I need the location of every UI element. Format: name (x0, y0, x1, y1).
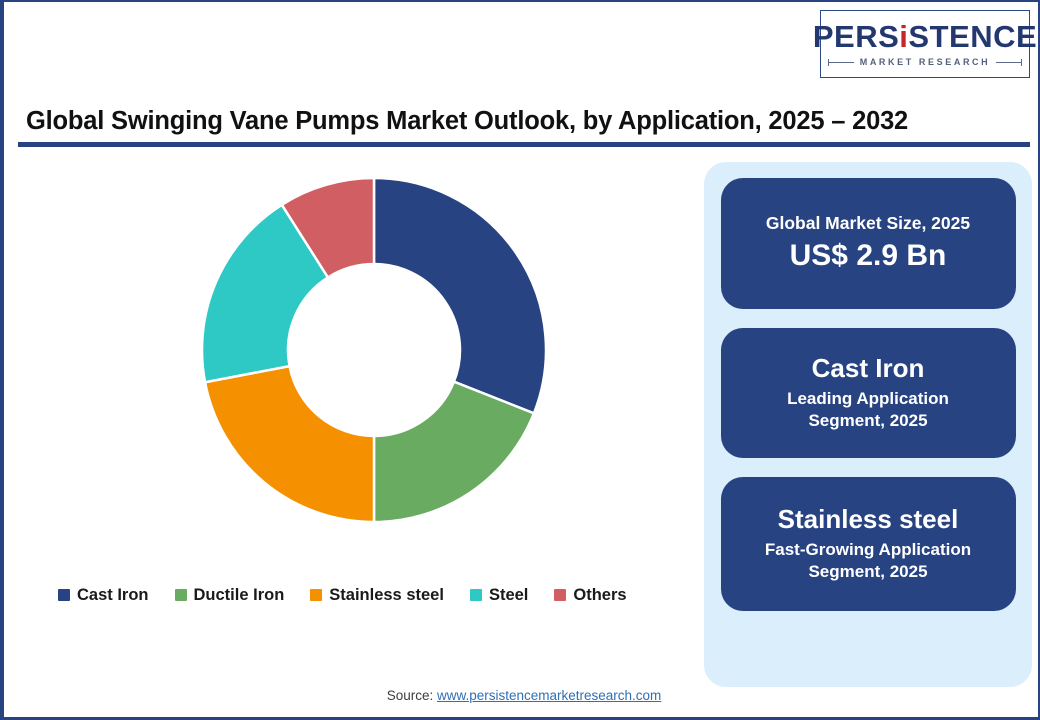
legend-label-ductile-iron: Ductile Iron (194, 586, 285, 605)
card-fast-sub-line2: Segment, 2025 (808, 561, 927, 583)
card-market-size-value: US$ 2.9 Bn (790, 238, 947, 274)
donut-slice-group (202, 178, 546, 522)
legend-swatch-ductile-iron (175, 589, 187, 601)
persistence-market-research-logo: PERSiSTENCE MARKET RESEARCH (820, 10, 1030, 78)
legend-item-stainless-steel[interactable]: Stainless steel (310, 586, 444, 605)
legend-label-steel: Steel (489, 586, 528, 605)
legend-label-stainless-steel: Stainless steel (329, 586, 444, 605)
legend-item-cast-iron[interactable]: Cast Iron (58, 586, 149, 605)
highlights-panel: Global Market Size, 2025 US$ 2.9 Bn Cast… (704, 162, 1032, 687)
chart-legend: Cast Iron Ductile Iron Stainless steel S… (58, 580, 698, 610)
logo-rule-left-icon (828, 62, 854, 63)
card-leading-sub-line1: Leading Application (787, 388, 949, 410)
infographic-page: PERSiSTENCE MARKET RESEARCH Global Swing… (0, 0, 1040, 720)
source-label: Source: (387, 688, 437, 703)
card-leading-segment: Cast Iron Leading Application Segment, 2… (721, 328, 1016, 458)
logo-tagline-row: MARKET RESEARCH (828, 57, 1023, 67)
logo-wordmark: PERSiSTENCE (813, 21, 1037, 52)
page-title: Global Swinging Vane Pumps Market Outloo… (26, 107, 1016, 136)
legend-item-steel[interactable]: Steel (470, 586, 528, 605)
legend-label-others: Others (573, 586, 626, 605)
legend-swatch-stainless-steel (310, 589, 322, 601)
donut-chart-svg (186, 168, 546, 532)
legend-item-others[interactable]: Others (554, 586, 626, 605)
legend-swatch-steel (470, 589, 482, 601)
source-link[interactable]: www.persistencemarketresearch.com (437, 688, 661, 703)
legend-label-cast-iron: Cast Iron (77, 586, 149, 605)
card-leading-sub-line2: Segment, 2025 (808, 410, 927, 432)
logo-tagline: MARKET RESEARCH (860, 57, 991, 67)
legend-item-ductile-iron[interactable]: Ductile Iron (175, 586, 285, 605)
source-footer: Source: www.persistencemarketresearch.co… (4, 688, 1040, 703)
donut-slice-ductile-iron[interactable] (374, 382, 534, 522)
donut-slice-cast-iron[interactable] (374, 178, 546, 413)
title-underline-divider (18, 142, 1030, 147)
donut-slice-stainless-steel[interactable] (205, 366, 374, 522)
card-fast-growing-segment: Stainless steel Fast-Growing Application… (721, 477, 1016, 611)
legend-swatch-others (554, 589, 566, 601)
donut-chart (186, 168, 546, 532)
legend-swatch-cast-iron (58, 589, 70, 601)
logo-rule-right-icon (996, 62, 1022, 63)
logo-word-part2: STENCE (908, 19, 1037, 54)
donut-chart-area: Cast Iron Ductile Iron Stainless steel S… (18, 152, 694, 672)
logo-word-part1: PERS (813, 19, 899, 54)
card-fast-headline: Stainless steel (778, 505, 959, 535)
card-market-size-kicker: Global Market Size, 2025 (766, 213, 970, 235)
card-global-market-size: Global Market Size, 2025 US$ 2.9 Bn (721, 178, 1016, 309)
card-fast-sub-line1: Fast-Growing Application (765, 539, 971, 561)
card-leading-headline: Cast Iron (812, 354, 925, 384)
